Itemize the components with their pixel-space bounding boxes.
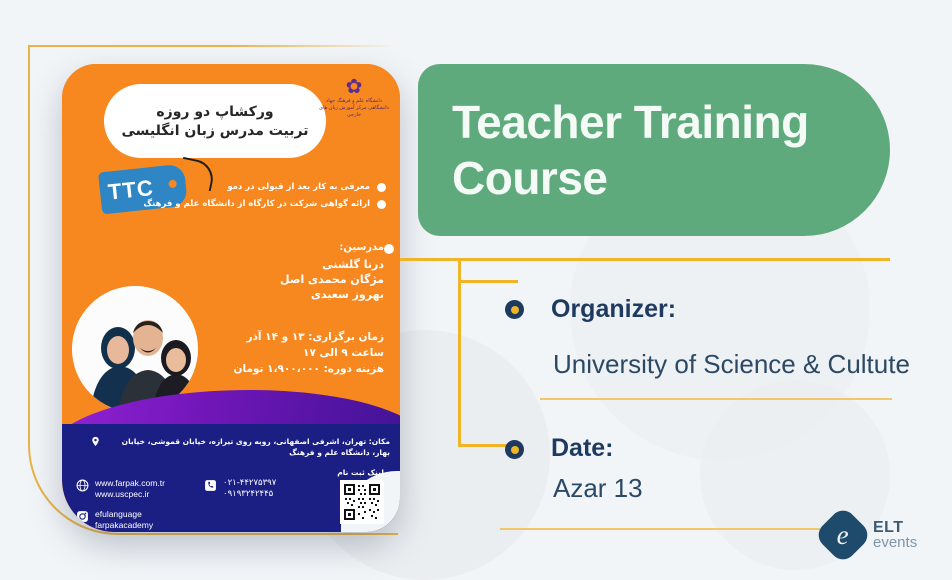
organizer-underline [540, 398, 892, 400]
bullet-dot-icon [377, 183, 386, 192]
schedule-date: زمان برگزاری: ۱۳ و ۱۴ آذر [233, 329, 384, 345]
bullet-dot-icon [377, 200, 386, 209]
university-logo: ✿ دانشگاه علم و فرهنگ جهاد دانشگاهی مرکز… [318, 78, 390, 140]
organizer-node-dot-icon [505, 300, 524, 319]
instagram-icon [76, 510, 89, 523]
poster-bullet-list: معرفی به کار بعد از قبولی در دمو ارائه گ… [90, 182, 386, 209]
date-node-dot-icon [505, 440, 524, 459]
poster-frame-top-edge [28, 45, 398, 47]
connector-top-line [400, 258, 890, 261]
qr-code-label: لینک ثبت نام [337, 468, 384, 477]
page-title: Teacher Training Course [452, 94, 890, 206]
date-underline [500, 528, 820, 530]
poster-headline-blob: ورکشاپ دو روزه تربیت مدرس زبان انگلیسی [104, 84, 326, 158]
instructor-name: مژگان محمدی اصل [280, 272, 384, 287]
poster-headline-line1: ورکشاپ دو روزه [156, 104, 273, 120]
elt-events-logo: e ELT events [822, 514, 917, 556]
university-logo-text: دانشگاه علم و فرهنگ جهاد دانشگاهی مرکز آ… [318, 98, 390, 119]
elt-logo-glyph: e [837, 521, 849, 548]
instructors-label: مدرسین: [280, 242, 384, 253]
poster-bullet-text: معرفی به کار بعد از قبولی در دمو [227, 182, 370, 192]
elt-logo-wordmark: ELT events [873, 520, 917, 550]
elt-logo-line1: ELT [873, 520, 917, 535]
schedule-time: ساعت ۹ الی ۱۷ [233, 345, 384, 361]
registration-qr-code[interactable] [340, 480, 384, 524]
elt-logo-line2: events [873, 535, 917, 550]
qr-code-graphic [342, 482, 382, 522]
poster-website-text: www.farpak.com.tr www.uscpec.ir [95, 478, 165, 500]
poster-phone-row: ۰۲۱-۴۴۲۷۵۳۹۷ ۰۹۱۹۳۲۴۲۴۴۵ [204, 478, 276, 509]
poster-address-block: مکان: تهران، اشرفی اصفهانی، روبه روی تیر… [90, 436, 390, 458]
poster-instagram-text: efulanguage farpakacademy [95, 509, 153, 531]
instructors-bullet-dot-icon [384, 244, 394, 254]
instructor-name: درنا گلشنی [280, 257, 384, 272]
schedule-price: هزینه دوره: ۱،۹۰۰،۰۰۰ تومان [233, 361, 384, 377]
poster-instructors-block: مدرسین: درنا گلشنی مژگان محمدی اصل بهروز… [280, 242, 384, 302]
phone-icon [204, 479, 217, 492]
date-label: Date: [551, 434, 614, 463]
poster-bullet-text: ارائه گواهی شرکت در کارگاه از دانشگاه عل… [143, 199, 370, 209]
poster-phone-text: ۰۲۱-۴۴۲۷۵۳۹۷ ۰۹۱۹۳۲۴۲۴۴۵ [223, 478, 276, 500]
organizer-label: Organizer: [551, 295, 676, 324]
poster-address-text: مکان: تهران، اشرفی اصفهانی، روبه روی تیر… [106, 436, 390, 458]
poster-bullet-item: معرفی به کار بعد از قبولی در دمو [227, 182, 386, 192]
organizer-value: University of Science & Cultute [553, 349, 910, 380]
poster-bullet-item: ارائه گواهی شرکت در کارگاه از دانشگاه عل… [143, 199, 386, 209]
connector-trunk-line [458, 258, 461, 446]
globe-icon [76, 479, 89, 492]
elt-logo-mark-icon: e [813, 505, 872, 564]
location-pin-icon [90, 436, 101, 447]
date-value: Azar 13 [553, 473, 643, 504]
poster-instagram-row: efulanguage farpakacademy [76, 509, 266, 531]
connector-branch-organizer [458, 280, 518, 283]
event-poster-image: ورکشاپ دو روزه تربیت مدرس زبان انگلیسی ✿… [62, 64, 400, 532]
poster-headline-line2: تربیت مدرس زبان انگلیسی [121, 123, 308, 139]
university-logo-mark: ✿ [346, 78, 363, 96]
poster-schedule-block: زمان برگزاری: ۱۳ و ۱۴ آذر ساعت ۹ الی ۱۷ … [233, 329, 384, 377]
course-title-banner: Teacher Training Course [418, 64, 890, 236]
instructor-name: بهروز سعیدی [280, 287, 384, 302]
